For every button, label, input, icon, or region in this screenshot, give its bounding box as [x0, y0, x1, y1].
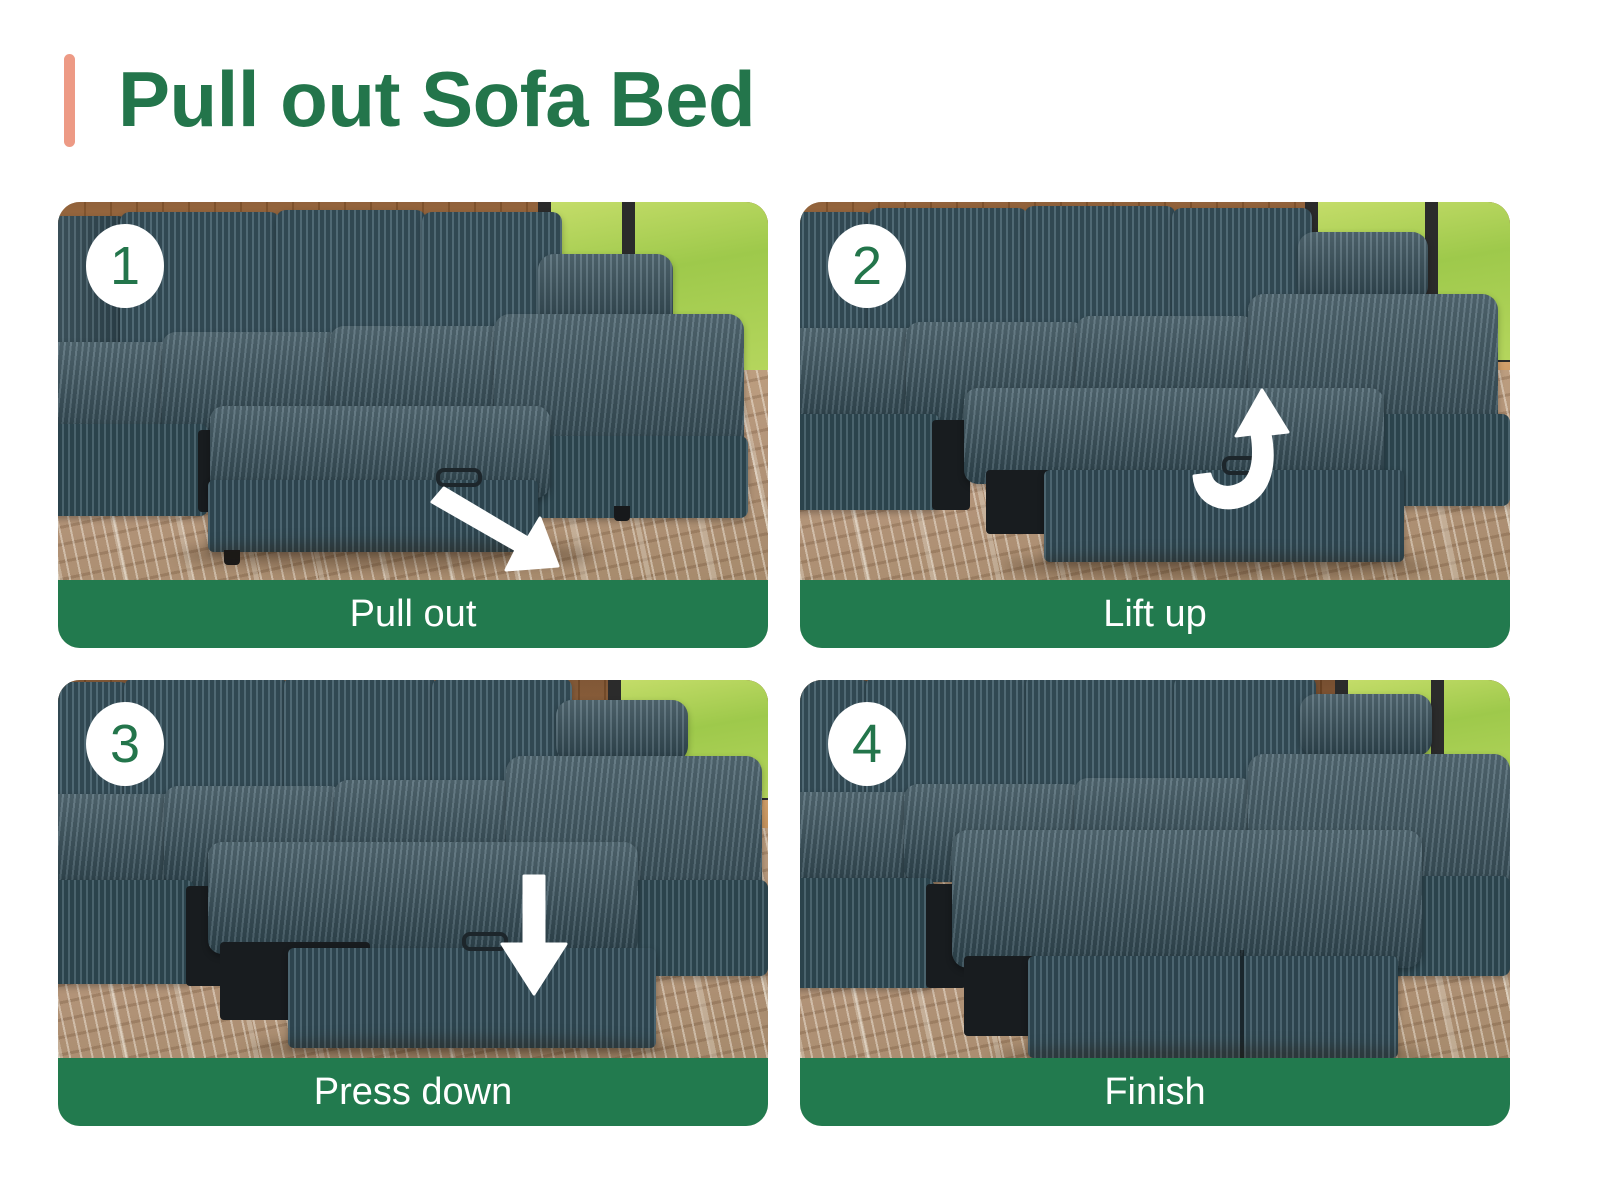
step-caption-4: Finish — [1104, 1070, 1205, 1114]
pullout-front-panel[interactable] — [1044, 470, 1404, 562]
step-number-2: 2 — [852, 239, 882, 293]
step-number-badge-3: 3 — [86, 702, 164, 786]
step-card-4[interactable]: 4 Finish — [800, 680, 1510, 1126]
step-number-badge-2: 2 — [828, 224, 906, 308]
step-photo-2: 2 — [800, 202, 1510, 580]
sofa-base — [58, 424, 208, 516]
sofa-arm — [556, 700, 688, 762]
step-caption-bar-2: Lift up — [800, 580, 1510, 648]
step-caption-bar-3: Press down — [58, 1058, 768, 1126]
step-caption-1: Pull out — [350, 592, 477, 636]
page-header: Pull out Sofa Bed — [0, 0, 1600, 190]
step-number-badge-1: 1 — [86, 224, 164, 308]
sofa-base — [800, 414, 940, 510]
step-caption-bar-4: Finish — [800, 1058, 1510, 1126]
step-photo-1: 1 — [58, 202, 768, 580]
step-card-1[interactable]: 1 Pull out — [58, 202, 768, 648]
bed-surface[interactable] — [952, 830, 1422, 968]
steps-grid: 1 Pull out — [58, 202, 1542, 1140]
step-caption-3: Press down — [314, 1070, 513, 1114]
step-number-badge-4: 4 — [828, 702, 906, 786]
step-number-1: 1 — [110, 239, 140, 293]
step-number-3: 3 — [110, 717, 140, 771]
pullout-handle-strap[interactable] — [1222, 456, 1268, 475]
pullout-front-panel[interactable] — [288, 948, 656, 1048]
pullout-seat-cushion[interactable] — [208, 842, 638, 954]
title-accent-bar — [64, 54, 75, 147]
step-number-4: 4 — [852, 717, 882, 771]
sofa-base — [58, 880, 194, 984]
sofa-arm — [1300, 694, 1432, 756]
step-photo-3: 3 — [58, 680, 768, 1058]
step-card-2[interactable]: 2 Lift up — [800, 202, 1510, 648]
step-photo-4: 4 — [800, 680, 1510, 1058]
page-title: Pull out Sofa Bed — [118, 47, 755, 152]
step-caption-2: Lift up — [1103, 592, 1207, 636]
bed-seam — [1240, 950, 1244, 1058]
pullout-handle-strap[interactable] — [462, 932, 508, 951]
sofa-arm — [1298, 232, 1428, 302]
bed-front-panel — [1028, 956, 1398, 1058]
sofa-base — [800, 878, 934, 988]
step-card-3[interactable]: 3 Press down — [58, 680, 768, 1126]
step-caption-bar-1: Pull out — [58, 580, 768, 648]
pullout-handle-strap[interactable] — [436, 468, 482, 487]
